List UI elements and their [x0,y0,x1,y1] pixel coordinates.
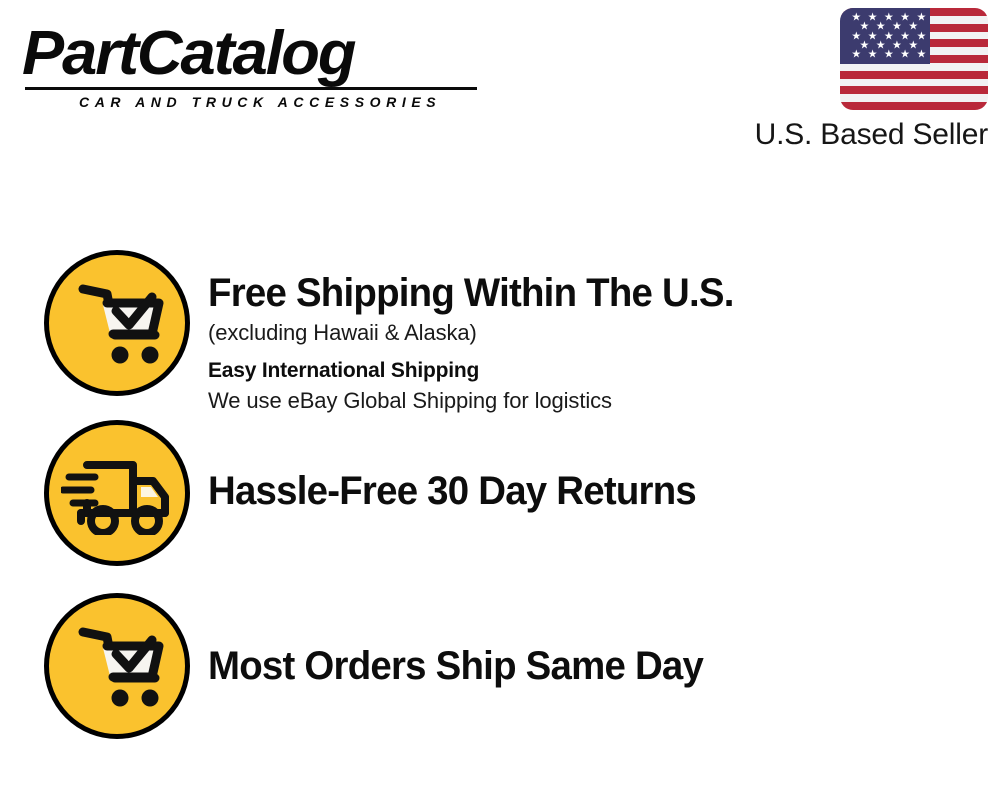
brand-wordmark: PartCatalog [22,22,501,86]
feature-secondary-headline: Easy International Shipping [208,356,1000,386]
feature-text: Free Shipping Within The U.S. (excluding… [190,250,1000,416]
us-flag-icon: ★ ★ ★ ★ ★ ★ ★ ★ ★ ★ ★ ★ ★ ★ ★ ★ ★ [840,8,988,110]
feature-text: Most Orders Ship Same Day [190,593,1000,689]
feature-secondary-subline: We use eBay Global Shipping for logistic… [208,386,1000,416]
seller-badge-label: U.S. Based Seller [718,117,988,153]
feature-headline: Hassle-Free 30 Day Returns [208,468,968,514]
flag-stars: ★ ★ ★ ★ ★ ★ ★ ★ ★ ★ ★ ★ ★ ★ ★ ★ ★ [840,8,988,110]
shopping-cart-check-icon [44,250,190,396]
header: PartCatalog CAR AND TRUCK ACCESSORIES ★ [0,0,1000,165]
seller-badge: ★ ★ ★ ★ ★ ★ ★ ★ ★ ★ ★ ★ ★ ★ ★ ★ ★ [718,8,988,153]
feature-text: Hassle-Free 30 Day Returns [190,420,1000,514]
shopping-cart-check-icon [44,593,190,739]
feature-row: Hassle-Free 30 Day Returns [0,420,1000,566]
brand-tagline: CAR AND TRUCK ACCESSORIES [79,93,492,111]
feature-subline: (excluding Hawaii & Alaska) [208,318,1000,348]
brand-logo: PartCatalog CAR AND TRUCK ACCESSORIES [22,22,492,111]
delivery-truck-icon [44,420,190,566]
promo-banner: PartCatalog CAR AND TRUCK ACCESSORIES ★ [0,0,1000,800]
feature-headline: Most Orders Ship Same Day [208,643,968,689]
feature-row: Free Shipping Within The U.S. (excluding… [0,250,1000,416]
feature-row: Most Orders Ship Same Day [0,593,1000,739]
feature-headline: Free Shipping Within The U.S. [208,270,968,316]
